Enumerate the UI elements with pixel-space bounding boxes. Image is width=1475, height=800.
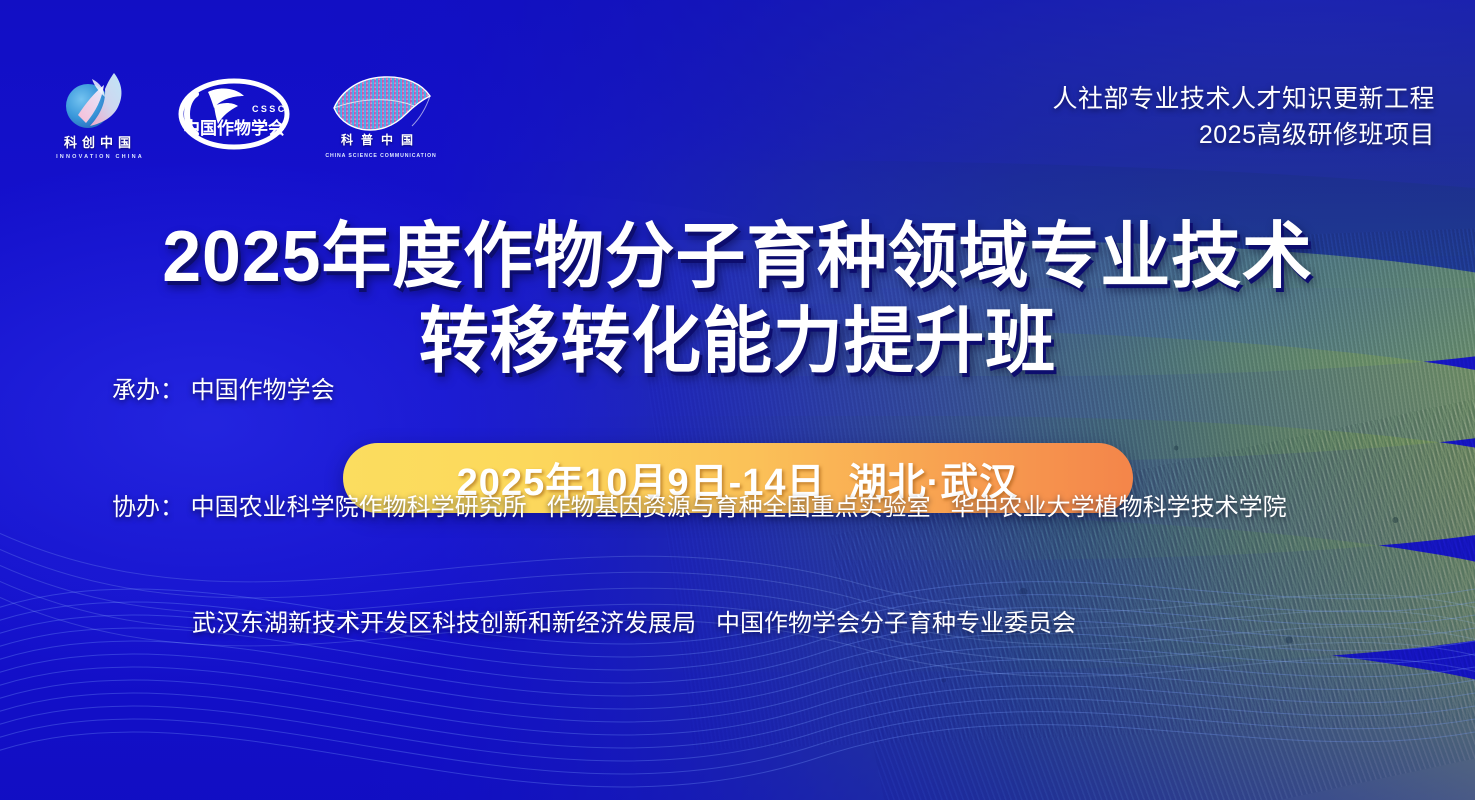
logo-china-science-communication: 科普中国 CHINA SCIENCE COMMUNICATION xyxy=(316,72,446,160)
poster-content: 科创中国 INNOVATION CHINA CSSC 中国作物学会 xyxy=(0,0,1475,800)
innovation-china-mark-icon xyxy=(62,72,138,134)
logo-kepu-en: CHINA SCIENCE COMMUNICATION xyxy=(316,153,446,159)
program-line-1: 人社部专业技术人才知识更新工程 xyxy=(1052,82,1435,118)
logo-innovation-china-cn: 科创中国 xyxy=(48,136,152,150)
logo-kepu-cn: 科普中国 xyxy=(316,131,446,148)
bird-swoosh-icon xyxy=(72,71,134,131)
logo-row: 科创中国 INNOVATION CHINA CSSC 中国作物学会 xyxy=(48,72,446,160)
title-line-1: 2025年度作物分子育种领域专业技术 xyxy=(22,215,1453,300)
logo-innovation-china-en: INNOVATION CHINA xyxy=(48,154,152,160)
svg-text:CSSC: CSSC xyxy=(252,104,287,114)
svg-text:中国作物学会: 中国作物学会 xyxy=(183,118,285,138)
program-line-2: 2025高级研修班项目 xyxy=(1052,118,1435,154)
logo-innovation-china: 科创中国 INNOVATION CHINA xyxy=(48,72,152,160)
cssc-emblem-icon: CSSC 中国作物学会 xyxy=(174,76,294,154)
feather-fan-icon xyxy=(326,74,438,134)
conference-poster: 科创中国 INNOVATION CHINA CSSC 中国作物学会 xyxy=(0,0,1475,800)
organizer-host-line: 承办： 中国作物学会 xyxy=(0,372,1475,411)
organizer-coorg-line-2: 武汉东湖新技术开发区科技创新和新经济发展局 中国作物学会分子育种专业委员会 xyxy=(0,605,1475,644)
logo-cssc: CSSC 中国作物学会 xyxy=(174,72,294,160)
program-identifier: 人社部专业技术人才知识更新工程 2025高级研修班项目 xyxy=(1052,82,1435,153)
organizer-block: 承办： 中国作物学会 协办： 中国农业科学院作物科学研究所 作物基因资源与育种全… xyxy=(0,294,1475,722)
organizer-coorg-line-1: 协办： 中国农业科学院作物科学研究所 作物基因资源与育种全国重点实验室 华中农业… xyxy=(0,489,1475,528)
